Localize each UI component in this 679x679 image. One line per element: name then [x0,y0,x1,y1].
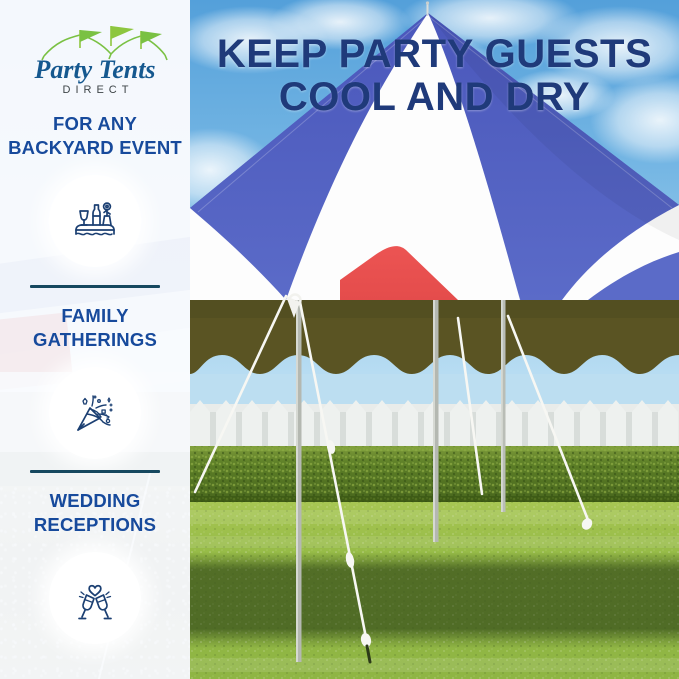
feature-wedding-receptions: WEDDING RECEPTIONS [0,470,190,644]
feature-title: FOR ANY BACKYARD EVENT [0,112,190,161]
party-popper-icon [70,388,120,438]
feature-icon-badge [49,175,141,267]
party-table-icon [70,196,120,246]
logo-subtitle: DIRECT [63,84,134,96]
party-tents-direct-logo-icon: Party Tents DIRECT [10,26,180,98]
logo-wordmark: Party Tents [33,55,155,84]
feature-title: FAMILY GATHERINGS [0,304,190,353]
section-divider [30,470,160,473]
product-photo [190,0,679,679]
feature-icon-badge [49,552,141,644]
brand-logo[interactable]: Party Tents DIRECT [0,26,190,98]
feature-family-gatherings: FAMILY GATHERINGS [0,285,190,459]
feature-icon-badge [49,367,141,459]
sidebar: Party Tents DIRECT FOR ANY BACKYARD EVEN… [0,0,190,679]
feature-backyard-event: FOR ANY BACKYARD EVENT [0,112,190,267]
section-divider [30,285,160,288]
feature-title: WEDDING RECEPTIONS [0,489,190,538]
tent-scene-illustration [190,0,679,679]
toasting-glasses-heart-icon [70,573,120,623]
advertisement-banner: KEEP PARTY GUESTS COOL AND DRY [0,0,679,679]
